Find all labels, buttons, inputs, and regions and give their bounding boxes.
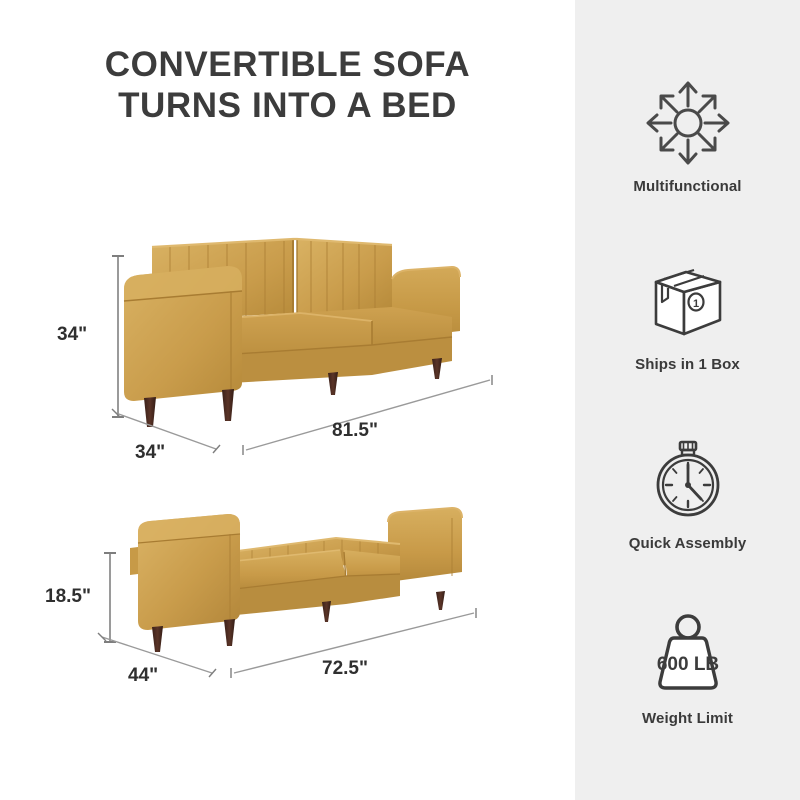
sofa-width-line: [240, 370, 500, 456]
feature-label-ships-in-1-box: Ships in 1 Box: [575, 356, 800, 373]
feature-label-multifunctional: Multifunctional: [575, 178, 800, 195]
bed-height-label: 18.5": [45, 586, 91, 608]
bed-left-arm: [130, 514, 240, 630]
bed-depth-line: [96, 631, 226, 681]
bed-width-label: 72.5": [322, 658, 368, 680]
multi-direction-arrows-icon: [575, 80, 800, 166]
feature-label-quick-assembly: Quick Assembly: [575, 535, 800, 552]
feature-item-multifunctional: Multifunctional: [575, 80, 800, 195]
title-line-2: TURNS INTO A BED: [0, 85, 575, 126]
feature-item-weight-limit: 600 LB Weight Limit: [575, 612, 800, 727]
sofa-depth-label: 34": [135, 442, 165, 464]
page-title: CONVERTIBLE SOFA TURNS INTO A BED: [0, 44, 575, 127]
sofa-left-arm: [124, 266, 242, 401]
product-infographic: CONVERTIBLE SOFA TURNS INTO A BED: [0, 0, 800, 800]
feature-item-ships-in-1-box: 1 Ships in 1 Box: [575, 258, 800, 373]
stopwatch-icon: [575, 437, 800, 523]
sofa-depth-line: [110, 407, 230, 455]
title-line-1: CONVERTIBLE SOFA: [0, 44, 575, 85]
sofa-view-illustration: 34" 34" 81.5": [100, 235, 520, 440]
weight-icon: 600 LB: [575, 612, 800, 698]
sofa-height-label: 34": [57, 324, 87, 346]
feature-label-weight-limit: Weight Limit: [575, 710, 800, 727]
bed-view-illustration: 18.5" 44" 72.5": [100, 500, 520, 665]
svg-text:1: 1: [692, 298, 698, 310]
weight-limit-badge: 600 LB: [656, 654, 718, 675]
sofa-width-label: 81.5": [332, 420, 378, 442]
feature-sidebar: Multifunctional: [575, 0, 800, 800]
shipping-box-icon: 1: [575, 258, 800, 344]
feature-item-quick-assembly: Quick Assembly: [575, 437, 800, 552]
bed-depth-label: 44": [128, 665, 158, 687]
left-panel: CONVERTIBLE SOFA TURNS INTO A BED: [0, 0, 575, 800]
